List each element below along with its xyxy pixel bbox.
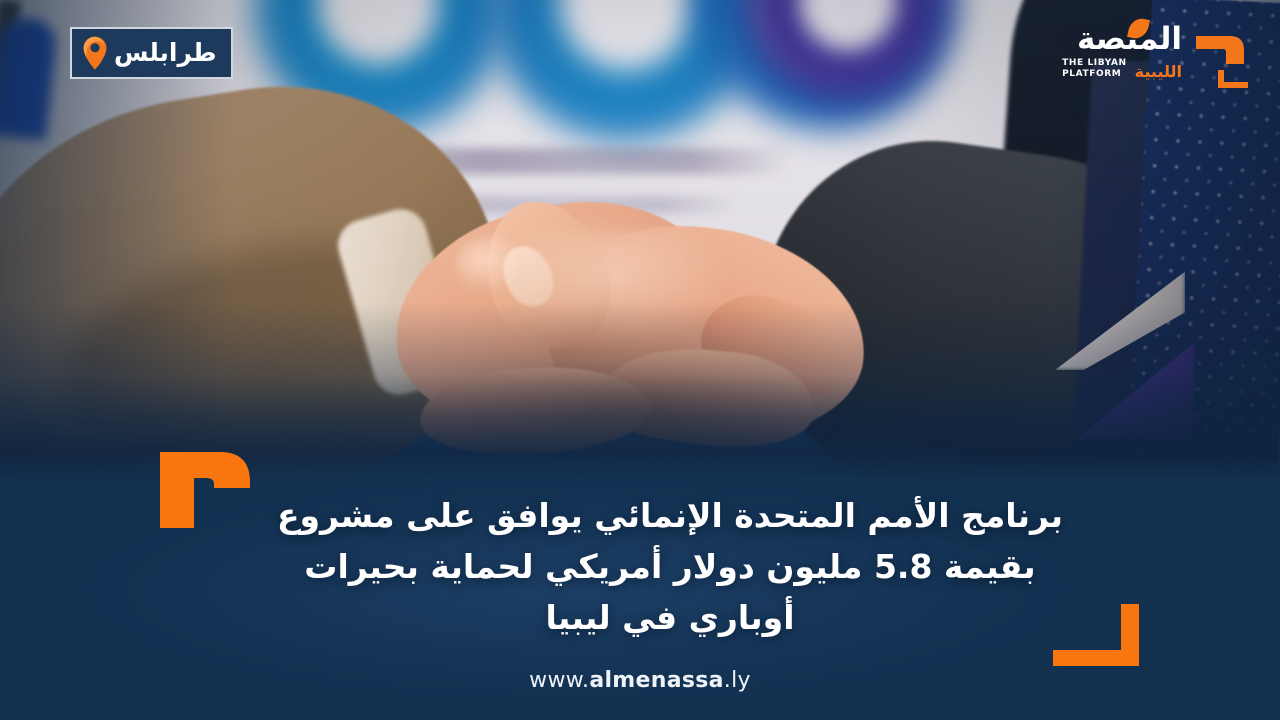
decor-hook — [158, 438, 256, 530]
brand-hook-icon — [1192, 20, 1258, 92]
location-badge-label: طرابلس — [114, 40, 217, 67]
orange-hook-icon — [158, 438, 256, 530]
brand-arabic-name: المنصة — [1077, 24, 1182, 55]
brand-logo[interactable]: المنصة THE LIBYAN PLATFORM الليبية — [1062, 20, 1258, 96]
brand-english-line2: PLATFORM — [1062, 69, 1127, 80]
brand-english-lines: THE LIBYAN PLATFORM — [1062, 58, 1127, 80]
map-pin-icon — [82, 36, 108, 70]
footer-website-url[interactable]: www.almenassa.ly — [0, 668, 1280, 693]
location-badge[interactable]: طرابلس — [70, 27, 233, 79]
news-card: طرابلس المنصة THE LIBYAN PLATFORM الليبي… — [0, 0, 1280, 720]
brand-wordmark: المنصة THE LIBYAN PLATFORM الليبية — [1062, 20, 1182, 80]
brand-mark — [1192, 20, 1258, 92]
brand-arabic-subtitle: الليبية — [1135, 64, 1182, 80]
url-name: almenassa — [589, 668, 723, 693]
url-tld: .ly — [724, 668, 751, 693]
brand-english-line1: THE LIBYAN — [1062, 58, 1127, 69]
headline-text: برنامج الأمم المتحدة الإنمائي يوافق على … — [270, 490, 1070, 643]
brand-subtitle-row: THE LIBYAN PLATFORM الليبية — [1062, 58, 1182, 80]
url-prefix: www. — [529, 668, 589, 693]
